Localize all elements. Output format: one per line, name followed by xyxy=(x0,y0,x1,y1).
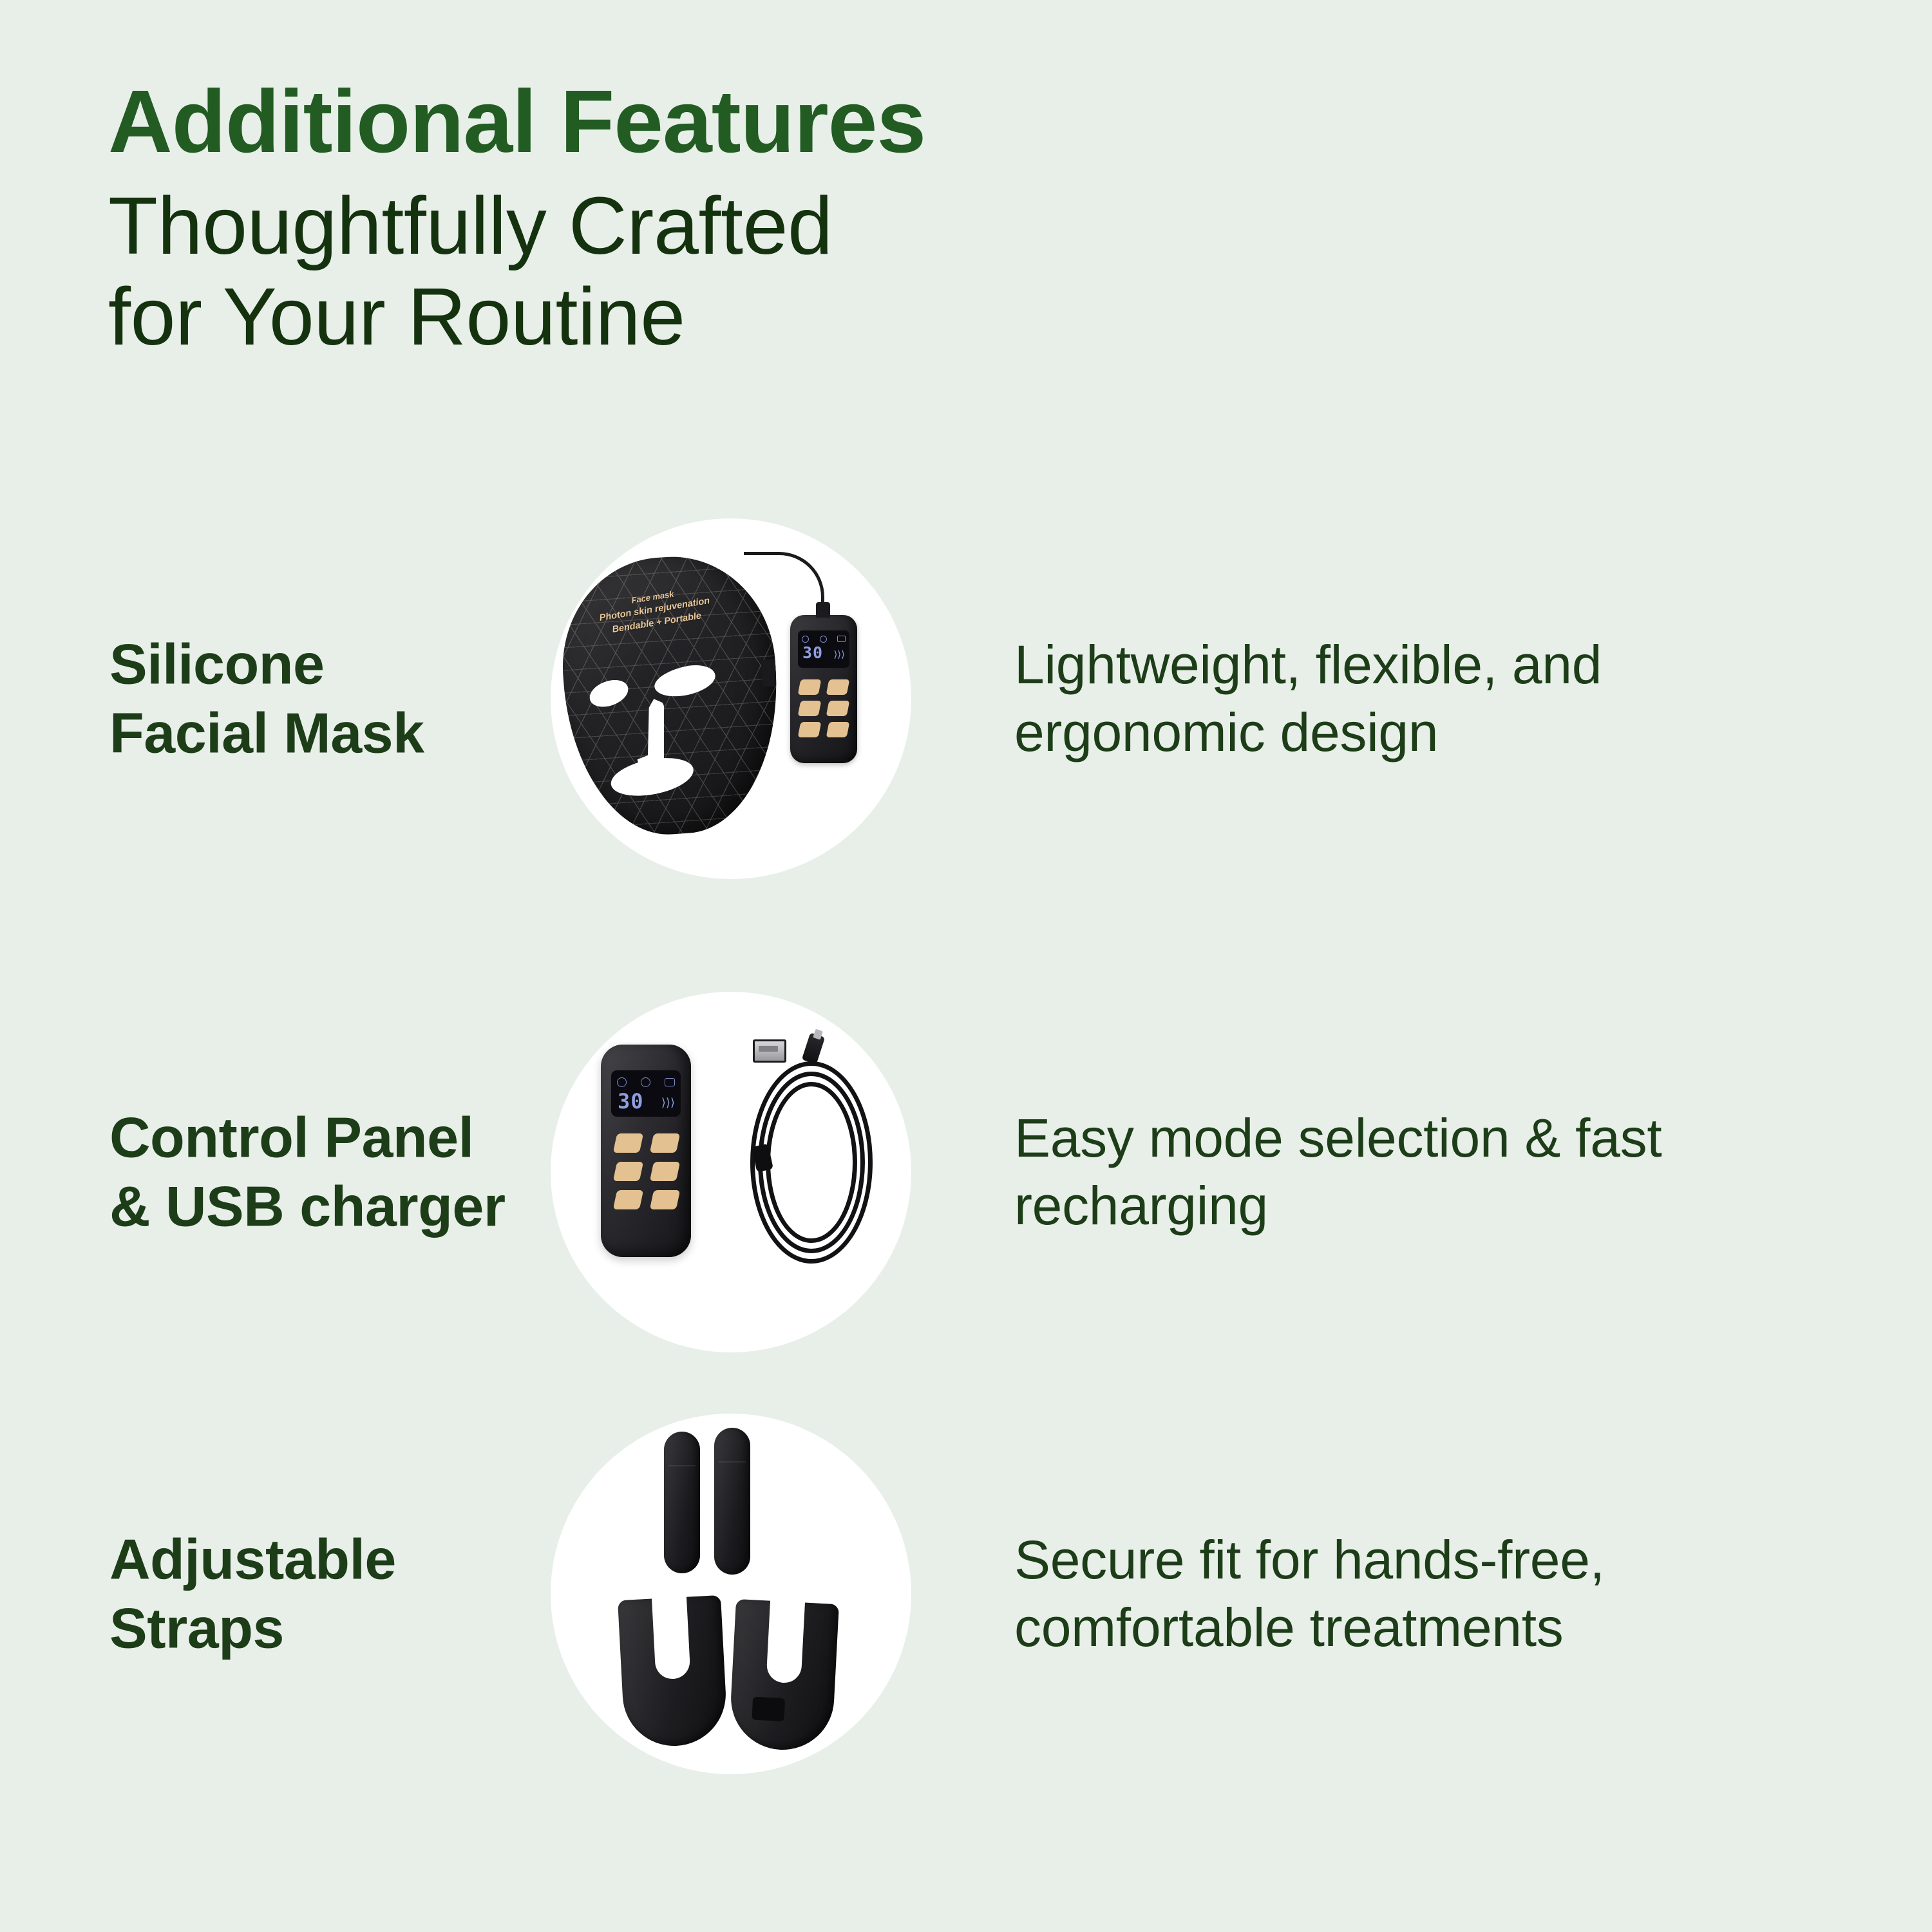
panel-button[interactable] xyxy=(613,1133,643,1153)
feature-image-control-panel-usb-charger: 30 ⟩⟩⟩ xyxy=(551,992,911,1352)
controller-button[interactable] xyxy=(826,679,850,695)
mask-illustration: Face mask Photon skin rejuvenation Benda… xyxy=(551,518,911,879)
mode-icon xyxy=(820,636,827,643)
chin-strap-left xyxy=(618,1595,728,1748)
mask-side-tab-upper xyxy=(761,659,780,687)
power-icon xyxy=(617,1077,627,1087)
panel-button[interactable] xyxy=(613,1162,643,1181)
feature-row-control-panel-usb-charger: Control Panel & USB charger 30 ⟩⟩⟩ xyxy=(0,947,1932,1397)
panel-button[interactable] xyxy=(650,1133,680,1153)
mask-side-tab-lower xyxy=(767,743,786,771)
controller-cable-plug xyxy=(816,602,830,618)
chin-strap-right xyxy=(728,1599,839,1752)
control-panel-icon: 30 ⟩⟩⟩ xyxy=(601,1045,691,1257)
feature-desc-line-2: ergonomic design xyxy=(1014,699,1839,766)
feature-row-silicone-facial-mask: Silicone Facial Mask Face mask Photon sk… xyxy=(0,473,1932,924)
feature-label-adjustable-straps: Adjustable Straps xyxy=(109,1525,573,1663)
feature-desc-line-2: recharging xyxy=(1014,1172,1839,1240)
power-icon xyxy=(802,636,809,643)
feature-desc-line-1: Easy mode selection & fast xyxy=(1014,1104,1839,1172)
vertical-strap-left xyxy=(664,1432,700,1573)
panel-led-screen: 30 ⟩⟩⟩ xyxy=(611,1070,681,1117)
feature-label-line-1: Silicone xyxy=(109,630,573,699)
panel-button[interactable] xyxy=(650,1162,680,1181)
feature-label-line-1: Control Panel xyxy=(109,1103,573,1172)
feature-label-line-2: & USB charger xyxy=(109,1172,573,1241)
usb-barrel-connector-icon xyxy=(802,1032,825,1064)
page-title: Additional Features xyxy=(108,77,1525,166)
vertical-strap-right xyxy=(714,1428,750,1575)
battery-icon xyxy=(665,1078,675,1086)
panel-status-icons xyxy=(617,1076,675,1088)
controller-timer-value: 30 xyxy=(802,645,823,661)
usb-type-a-connector-icon xyxy=(753,1039,786,1063)
controller-status-icons xyxy=(802,634,846,643)
panel-timer-value: 30 xyxy=(618,1091,644,1112)
feature-image-silicone-facial-mask: Face mask Photon skin rejuvenation Benda… xyxy=(551,518,911,879)
straps-illustration xyxy=(551,1414,911,1774)
feature-desc-line-1: Secure fit for hands-free, xyxy=(1014,1526,1839,1594)
feature-desc-line-2: comfortable treatments xyxy=(1014,1594,1839,1662)
controller-led-screen: 30 ⟩⟩⟩ xyxy=(798,630,849,668)
feature-label-line-1: Adjustable xyxy=(109,1525,573,1594)
mask-controller-icon: 30 ⟩⟩⟩ xyxy=(790,615,857,763)
control-panel-illustration: 30 ⟩⟩⟩ xyxy=(551,992,911,1352)
panel-button[interactable] xyxy=(650,1190,680,1209)
feature-label-control-panel-usb-charger: Control Panel & USB charger xyxy=(109,1103,573,1242)
controller-button-grid xyxy=(799,679,848,737)
subtitle-line-2: for Your Routine xyxy=(108,271,1525,362)
feature-label-silicone-facial-mask: Silicone Facial Mask xyxy=(109,630,573,768)
controller-button[interactable] xyxy=(798,722,822,737)
feature-label-line-2: Facial Mask xyxy=(109,699,573,768)
feature-label-line-2: Straps xyxy=(109,1594,573,1663)
battery-icon xyxy=(837,636,846,642)
controller-button[interactable] xyxy=(826,722,850,737)
signal-waves-icon: ⟩⟩⟩ xyxy=(833,649,845,660)
feature-description-control-panel-usb-charger: Easy mode selection & fast recharging xyxy=(1014,1104,1839,1240)
feature-description-silicone-facial-mask: Lightweight, flexible, and ergonomic des… xyxy=(1014,631,1839,766)
controller-button[interactable] xyxy=(798,701,822,716)
panel-button[interactable] xyxy=(613,1190,643,1209)
feature-row-adjustable-straps: Adjustable Straps Secure fit for hands-f… xyxy=(0,1368,1932,1819)
feature-image-adjustable-straps xyxy=(551,1414,911,1774)
controller-button[interactable] xyxy=(798,679,822,695)
feature-description-adjustable-straps: Secure fit for hands-free, comfortable t… xyxy=(1014,1526,1839,1662)
signal-waves-icon: ⟩⟩⟩ xyxy=(661,1096,675,1110)
page-header: Additional Features Thoughtfully Crafted… xyxy=(108,77,1525,362)
controller-button[interactable] xyxy=(826,701,850,716)
panel-button-grid xyxy=(615,1133,678,1209)
usb-cable-loop xyxy=(766,1082,857,1243)
page-subtitle: Thoughtfully Crafted for Your Routine xyxy=(108,180,1525,362)
feature-desc-line-1: Lightweight, flexible, and xyxy=(1014,631,1839,699)
usb-charging-cable-icon xyxy=(744,1032,873,1283)
mode-icon xyxy=(641,1077,650,1087)
infographic-page: Additional Features Thoughtfully Crafted… xyxy=(0,0,1932,1932)
subtitle-line-1: Thoughtfully Crafted xyxy=(108,180,1525,271)
